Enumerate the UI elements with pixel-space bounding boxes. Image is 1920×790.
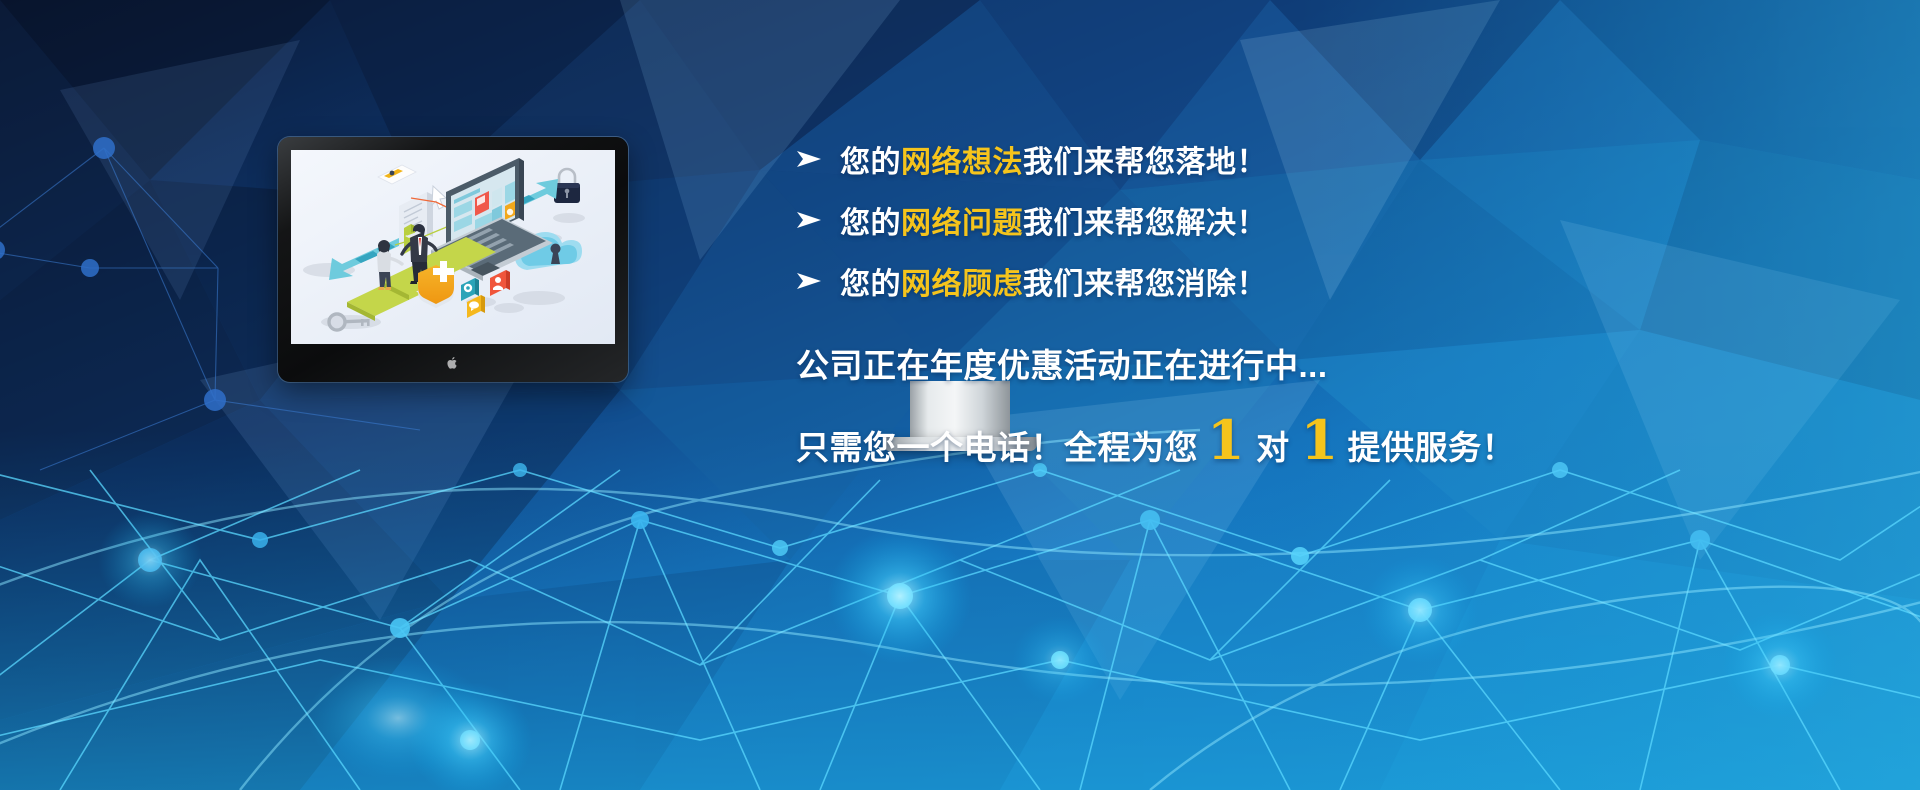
bullet-highlight: 网络想法 <box>901 146 1023 179</box>
bullet-tail: 我们来帮您解决！ <box>1023 207 1267 240</box>
bullet-lead: 您的 <box>840 207 901 240</box>
bullet-highlight: 网络顾虑 <box>901 268 1023 301</box>
bullet-tail: 我们来帮您落地！ <box>1023 146 1267 179</box>
cta-number-first: 1 <box>1198 419 1254 462</box>
bullet-lead: 您的 <box>840 268 901 301</box>
bullet-lead: 您的 <box>840 146 901 179</box>
cta-prefix: 只需您一个电话！全程为您 <box>796 421 1198 469</box>
apple-display-monitor <box>278 137 628 382</box>
arrow-bullet-icon <box>796 150 840 168</box>
cta-line: 只需您一个电话！全程为您 1 对 1 提供服务！ <box>796 419 1856 469</box>
bullet-text: 您的网络顾虑我们来帮您消除！ <box>840 259 1267 303</box>
cta-number-second: 1 <box>1292 419 1348 462</box>
list-item: 您的网络顾虑我们来帮您消除！ <box>796 250 1856 311</box>
monitor-chin <box>278 344 628 382</box>
monitor-screen <box>291 150 615 344</box>
bullet-text: 您的网络问题我们来帮您解决！ <box>840 198 1267 242</box>
bullet-text: 您的网络想法我们来帮您落地！ <box>840 137 1267 181</box>
arrow-bullet-icon <box>796 272 840 290</box>
bullet-tail: 我们来帮您消除！ <box>1023 268 1267 301</box>
promo-banner: 您的网络想法我们来帮您落地！ 您的网络问题我们来帮您解决！ 您的网络顾虑我们来帮… <box>0 0 1920 790</box>
promo-line: 公司正在年度优惠活动正在进行中... <box>796 339 1856 387</box>
arrow-bullet-icon <box>796 211 840 229</box>
isometric-security-illustration <box>291 150 615 344</box>
apple-logo-icon <box>447 356 459 370</box>
cta-middle: 对 <box>1254 421 1292 469</box>
banner-copy: 您的网络想法我们来帮您落地！ 您的网络问题我们来帮您解决！ 您的网络顾虑我们来帮… <box>796 128 1856 469</box>
bullet-list: 您的网络想法我们来帮您落地！ 您的网络问题我们来帮您解决！ 您的网络顾虑我们来帮… <box>796 128 1856 311</box>
list-item: 您的网络问题我们来帮您解决！ <box>796 189 1856 250</box>
list-item: 您的网络想法我们来帮您落地！ <box>796 128 1856 189</box>
cta-suffix: 提供服务！ <box>1348 421 1516 469</box>
bullet-highlight: 网络问题 <box>901 207 1023 240</box>
